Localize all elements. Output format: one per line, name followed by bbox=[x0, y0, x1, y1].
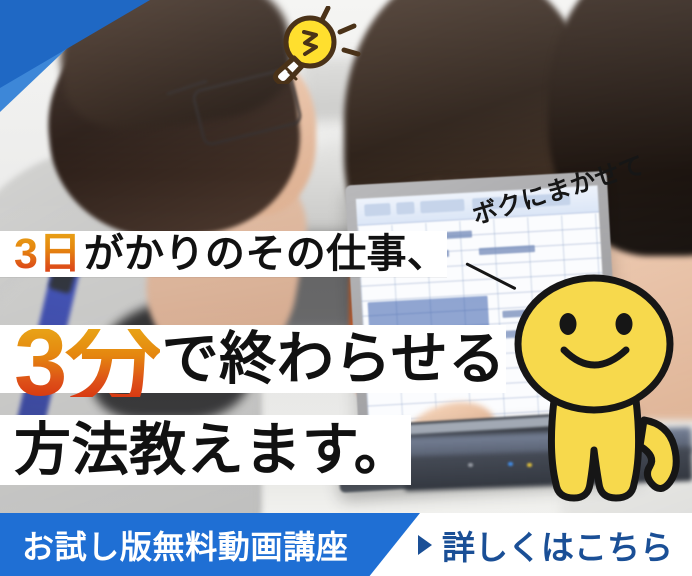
headline-line-2: 3分 で終わらせる bbox=[0, 325, 506, 393]
caret-right-icon bbox=[418, 535, 432, 555]
spreadsheet-tool bbox=[364, 203, 391, 216]
cta-badge-label: お試し版無料動画講座 bbox=[0, 522, 348, 568]
cta-bar: お試し版無料動画講座 詳しくはこちら bbox=[0, 513, 692, 576]
headline-accent-3minutes: 3分 bbox=[14, 329, 160, 397]
promo-banner: 3日 がかりのその仕事、 3分 で終わらせる 方法教えます。 ボクにまかせて bbox=[0, 0, 692, 576]
headline-line-1-text: がかりのその仕事、 bbox=[84, 231, 448, 277]
corner-triangle-dark-icon bbox=[0, 0, 150, 88]
headline-accent-3days: 3日 bbox=[14, 231, 82, 277]
cta-link-label: 詳しくはこちら bbox=[442, 521, 673, 569]
spreadsheet-tool bbox=[396, 202, 415, 215]
headline-line-2-text: で終わらせる bbox=[162, 325, 506, 393]
cta-badge[interactable]: お試し版無料動画講座 bbox=[0, 513, 420, 576]
mascot-character bbox=[492, 232, 692, 532]
headline-line-3: 方法教えます。 bbox=[0, 415, 411, 485]
headline-line-3-text: 方法教えます。 bbox=[14, 415, 411, 485]
cta-detail-link[interactable]: 詳しくはこちら bbox=[418, 513, 673, 576]
lightbulb-icon bbox=[258, 6, 368, 84]
spreadsheet-tool bbox=[420, 199, 465, 213]
headline-line-1: 3日 がかりのその仕事、 bbox=[0, 231, 447, 277]
photo-led-indicator bbox=[468, 463, 473, 467]
